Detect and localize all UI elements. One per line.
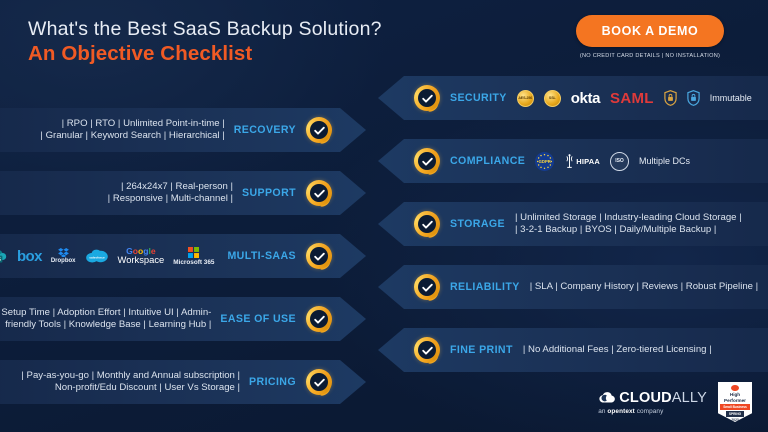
badge-year: 2023 [731, 418, 739, 422]
iso-certification-icon: ISO [610, 152, 629, 171]
fine-print-description: | No Additional Fees | Zero-tiered Licen… [523, 344, 712, 356]
g2-high-performer-badge: High Performer Small Business SPRING 202… [718, 382, 752, 422]
lock-shield-gold-icon [664, 90, 677, 106]
ssl-seal-icon: SSL [544, 90, 561, 107]
hipaa-logo: HIPAA [564, 154, 600, 169]
pricing-desc-line-2: Non-profit/Edu Discount | User Vs Storag… [21, 382, 240, 394]
left-row-ease-of-use[interactable]: | Setup Time | Adoption Effort | Intuiti… [0, 297, 366, 341]
support-desc-line-2: | Responsive | Multi-channel | [108, 193, 233, 205]
salesforce-logo: salesforce [85, 248, 109, 265]
multi-saas-logo-group: S box Dropbox salesforce Google Workspac… [0, 247, 214, 266]
right-row-compliance[interactable]: COMPLIANCE GDPR HIPAA ISO Multiple DCs [378, 139, 768, 183]
storage-desc-line-2: | 3-2-1 Backup | BYOS | Daily/Multiple B… [515, 224, 742, 236]
check-badge-icon [306, 243, 332, 269]
right-row-reliability[interactable]: RELIABILITY | SLA | Company History | Re… [378, 265, 768, 309]
page-title: What's the Best SaaS Backup Solution? An… [28, 18, 382, 67]
support-description: | 264x24x7 | Real-person | | Responsive … [108, 181, 233, 206]
check-badge-icon [306, 117, 332, 143]
badge-season: SPRING [726, 411, 744, 417]
pricing-description: | Pay-as-you-go | Monthly and Annual sub… [21, 370, 240, 395]
g2-logo-icon [731, 385, 739, 391]
immutable-label: Immutable [710, 93, 752, 103]
check-badge-icon [306, 306, 332, 332]
ease-of-use-desc-line-1: | Setup Time | Adoption Effort | Intuiti… [0, 307, 211, 319]
check-badge-icon [306, 180, 332, 206]
brand-light: ALLY [672, 390, 707, 406]
storage-desc-line-1: | Unlimited Storage | Industry-leading C… [515, 212, 742, 224]
check-badge-icon [414, 211, 440, 237]
hipaa-label: HIPAA [576, 157, 600, 166]
multi-saas-category-label: MULTI-SAAS [227, 250, 296, 262]
reliability-category-label: RELIABILITY [450, 281, 520, 293]
right-row-storage[interactable]: STORAGE | Unlimited Storage | Industry-l… [378, 202, 768, 246]
fine-print-category-label: FINE PRINT [450, 344, 513, 356]
check-badge-icon [306, 369, 332, 395]
cloudally-logo[interactable]: CLOUDALLY an opentext company [598, 390, 707, 415]
recovery-desc-line-1: | RPO | RTO | Unlimited Point-in-time | [40, 118, 224, 130]
recovery-desc-line-2: | Granular | Keyword Search | Hierarchic… [40, 130, 224, 142]
cta-subtext: (NO CREDIT CARD DETAILS | NO INSTALLATIO… [550, 53, 750, 59]
left-row-pricing[interactable]: | Pay-as-you-go | Monthly and Annual sub… [0, 360, 366, 404]
lock-shield-blue-icon [687, 90, 700, 106]
support-desc-line-1: | 264x24x7 | Real-person | [108, 181, 233, 193]
okta-logo: okta [571, 90, 600, 107]
cta-area: BOOK A DEMO (NO CREDIT CARD DETAILS | NO… [550, 15, 750, 59]
dropbox-logo: Dropbox [51, 248, 76, 264]
recovery-category-label: RECOVERY [234, 124, 296, 136]
cloud-icon [598, 391, 615, 404]
ease-of-use-category-label: EASE OF USE [220, 313, 296, 325]
right-row-fine-print[interactable]: FINE PRINT | No Additional Fees | Zero-t… [378, 328, 768, 372]
title-line-2: An Objective Checklist [28, 42, 382, 67]
sharepoint-logo: S [0, 249, 8, 264]
compliance-category-label: COMPLIANCE [450, 155, 525, 167]
multiple-dcs-label: Multiple DCs [639, 156, 690, 166]
box-logo: box [17, 249, 42, 264]
google-workspace-logo: Google Workspace [118, 247, 165, 266]
storage-description: | Unlimited Storage | Industry-leading C… [515, 212, 742, 237]
left-row-multi-saas[interactable]: S box Dropbox salesforce Google Workspac… [0, 234, 366, 278]
gdpr-logo: GDPR [535, 152, 554, 171]
infographic-canvas: What's the Best SaaS Backup Solution? An… [0, 0, 768, 432]
pricing-desc-line-1: | Pay-as-you-go | Monthly and Annual sub… [21, 370, 240, 382]
opentext-tagline: an opentext company [598, 408, 663, 415]
check-badge-icon [414, 148, 440, 174]
check-badge-icon [414, 337, 440, 363]
check-badge-icon [414, 274, 440, 300]
svg-text:salesforce: salesforce [89, 255, 105, 259]
left-row-recovery[interactable]: | RPO | RTO | Unlimited Point-in-time | … [0, 108, 366, 152]
title-line-1: What's the Best SaaS Backup Solution? [28, 18, 382, 40]
cloudally-wordmark: CLOUDALLY [619, 390, 707, 406]
storage-category-label: STORAGE [450, 218, 505, 230]
saml-logo: SAML [610, 90, 654, 107]
footer-branding: CLOUDALLY an opentext company High Perfo… [598, 382, 752, 422]
recovery-description: | RPO | RTO | Unlimited Point-in-time | … [40, 118, 224, 143]
security-category-label: SECURITY [450, 92, 507, 104]
left-row-support[interactable]: | 264x24x7 | Real-person | | Responsive … [0, 171, 366, 215]
microsoft-365-logo: Microsoft 365 [173, 247, 214, 266]
reliability-description: | SLA | Company History | Reviews | Robu… [530, 281, 758, 293]
ease-of-use-desc-line-2: friendly Tools | Knowledge Base | Learni… [0, 319, 211, 331]
aes-256-seal-icon: AES-256 [517, 90, 534, 107]
brand-bold: CLOUD [619, 390, 672, 406]
right-row-security[interactable]: SECURITY AES-256 SSL okta SAML Immutable [378, 76, 768, 120]
support-category-label: SUPPORT [242, 187, 296, 199]
pricing-category-label: PRICING [249, 376, 296, 388]
ease-of-use-description: | Setup Time | Adoption Effort | Intuiti… [0, 307, 211, 332]
badge-segment: Small Business [720, 404, 750, 410]
check-badge-icon [414, 85, 440, 111]
book-a-demo-button[interactable]: BOOK A DEMO [576, 15, 725, 47]
badge-title: High Performer [724, 392, 746, 403]
